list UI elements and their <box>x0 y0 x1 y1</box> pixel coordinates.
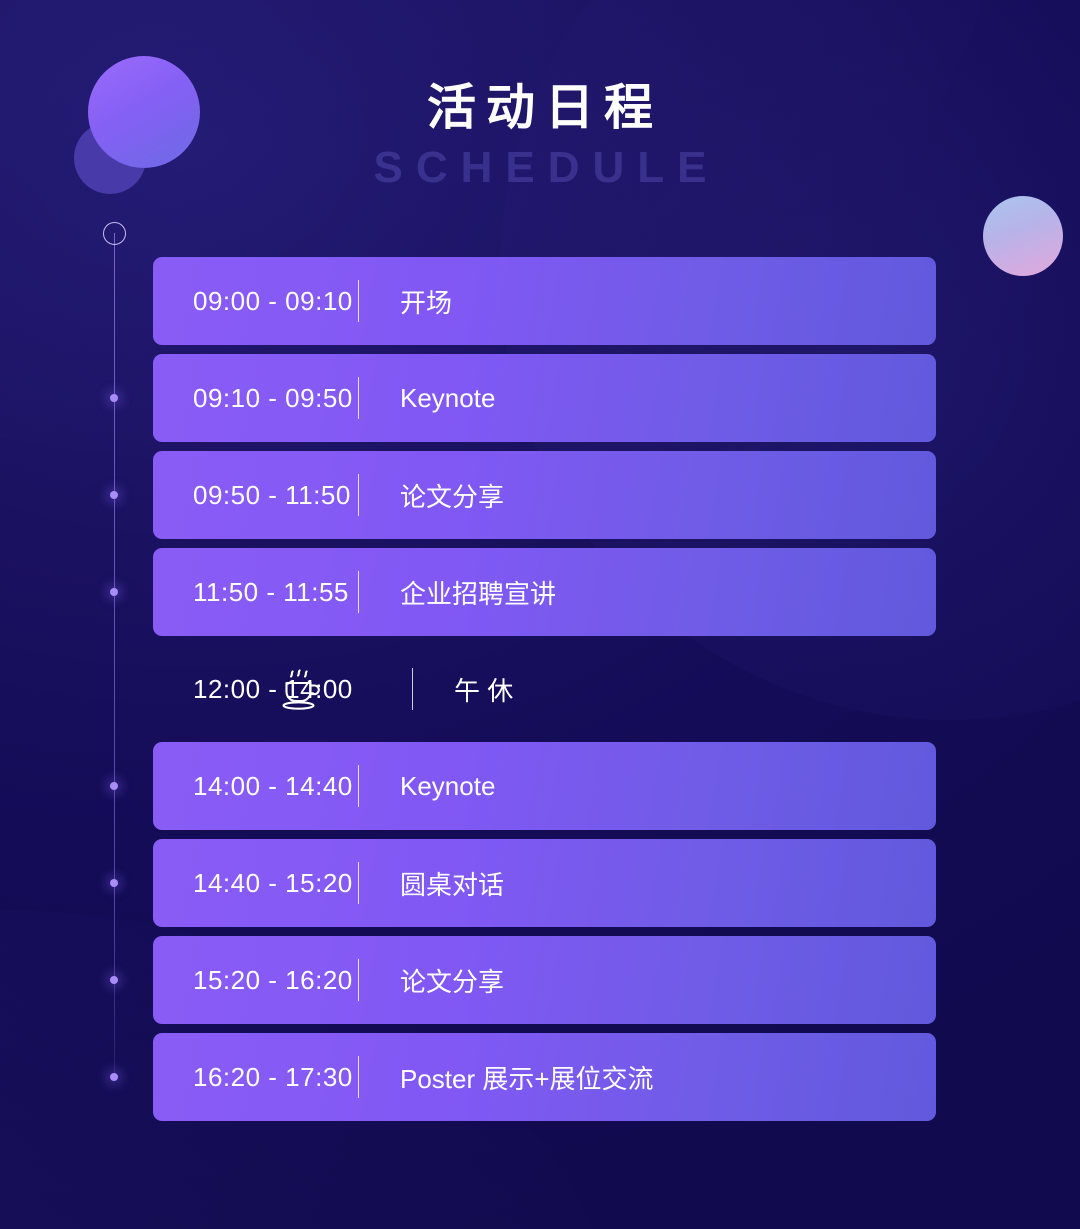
schedule-poster: 活动日程 SCHEDULE 09:00 - 09:10开场09:10 - 09:… <box>0 0 1080 1229</box>
schedule-row-title: 圆桌对话 <box>359 865 504 902</box>
schedule-row[interactable]: 14:40 - 15:20圆桌对话 <box>153 839 936 927</box>
schedule-row-time: 11:50 - 11:55 <box>153 577 358 608</box>
schedule-row[interactable]: 09:50 - 11:50论文分享 <box>153 451 936 539</box>
schedule-row-time: 09:50 - 11:50 <box>153 480 358 511</box>
timeline-dot <box>110 491 118 499</box>
schedule-row-time: 09:10 - 09:50 <box>153 383 358 414</box>
schedule-row[interactable]: 14:00 - 14:40Keynote <box>153 742 936 830</box>
schedule-break-row[interactable]: 12:00 - 14:00午 休 <box>180 645 936 733</box>
timeline-dot <box>110 782 118 790</box>
schedule-row-time: 14:00 - 14:40 <box>153 771 358 802</box>
schedule-row-title: Poster 展示+展位交流 <box>359 1059 654 1096</box>
schedule-row-time: 14:40 - 15:20 <box>153 868 358 899</box>
schedule-row[interactable]: 15:20 - 16:20论文分享 <box>153 936 936 1024</box>
schedule-row[interactable]: 16:20 - 17:30Poster 展示+展位交流 <box>153 1033 936 1121</box>
timeline-dot <box>110 394 118 402</box>
coffee-cup-icon <box>275 662 327 716</box>
timeline-dot <box>110 588 118 596</box>
schedule-row-title: 开场 <box>359 283 452 320</box>
schedule-row-title: Keynote <box>359 383 495 414</box>
schedule-row-title: Keynote <box>359 771 495 802</box>
timeline-dot <box>110 879 118 887</box>
timeline-dot <box>110 1073 118 1081</box>
schedule-row-title: 论文分享 <box>359 962 504 999</box>
schedule-row[interactable]: 09:10 - 09:50Keynote <box>153 354 936 442</box>
schedule-row-title: 论文分享 <box>359 477 504 514</box>
schedule-row-title: 企业招聘宣讲 <box>359 574 556 611</box>
schedule-row-time: 15:20 - 16:20 <box>153 965 358 996</box>
schedule-row-time: 09:00 - 09:10 <box>153 286 358 317</box>
schedule-row-title: 午 休 <box>413 671 513 708</box>
schedule-row-time: 16:20 - 17:30 <box>153 1062 358 1093</box>
timeline-dot <box>110 976 118 984</box>
schedule-row[interactable]: 11:50 - 11:55企业招聘宣讲 <box>153 548 936 636</box>
schedule-list: 09:00 - 09:10开场09:10 - 09:50Keynote09:50… <box>0 0 1080 1229</box>
schedule-row[interactable]: 09:00 - 09:10开场 <box>153 257 936 345</box>
